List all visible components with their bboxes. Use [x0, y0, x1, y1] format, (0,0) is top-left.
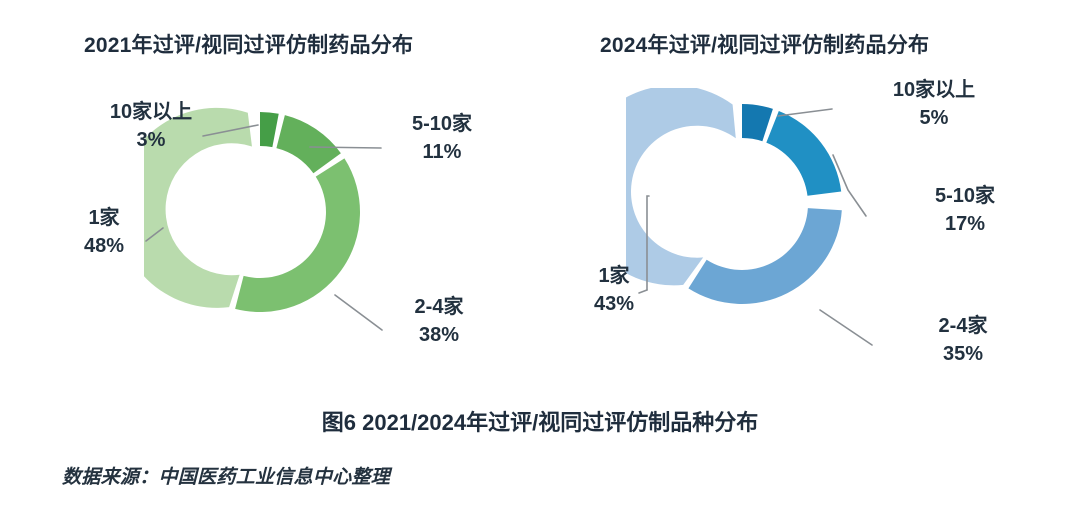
figure-caption: 图6 2021/2024年过评/视同过评仿制品种分布: [0, 405, 1080, 437]
figure-container: 2021年过评/视同过评仿制药品分布 10家以上 3% 1家 48% 5-10家: [0, 0, 1080, 526]
label-category: 10家以上: [874, 76, 994, 104]
label-value: 11%: [389, 138, 495, 166]
label-category: 5-10家: [389, 110, 495, 138]
label-value: 17%: [913, 210, 1017, 238]
label-5-10-2024: 5-10家 17%: [913, 182, 1017, 239]
data-source-note: 数据来源：中国医药工业信息中心整理: [62, 462, 390, 489]
donut-chart-2024: [626, 88, 858, 320]
label-value: 43%: [571, 290, 657, 318]
label-2-4-2021: 2-4家 38%: [389, 293, 489, 350]
label-value: 38%: [389, 321, 489, 349]
chart-title-2021: 2021年过评/视同过评仿制药品分布: [84, 29, 413, 59]
chart-title-2024: 2024年过评/视同过评仿制药品分布: [600, 29, 929, 59]
slice-10plus-2024: [742, 104, 773, 141]
slice-5-10-2024: [766, 111, 841, 196]
label-10plus-2024: 10家以上 5%: [874, 76, 994, 133]
slice-2-4-2024: [688, 208, 841, 304]
label-10plus-2021: 10家以上 3%: [93, 98, 209, 155]
label-value: 5%: [874, 104, 994, 132]
label-value: 3%: [93, 126, 209, 154]
label-category: 2-4家: [389, 293, 489, 321]
label-1-2024: 1家 43%: [571, 262, 657, 319]
label-value: 35%: [913, 340, 1013, 368]
label-2-4-2024: 2-4家 35%: [913, 312, 1013, 369]
slice-5-10-2021: [276, 115, 340, 173]
label-value: 48%: [56, 232, 152, 260]
label-5-10-2021: 5-10家 11%: [389, 110, 495, 167]
label-category: 1家: [571, 262, 657, 290]
label-category: 10家以上: [93, 98, 209, 126]
label-category: 2-4家: [913, 312, 1013, 340]
label-category: 5-10家: [913, 182, 1017, 210]
label-category: 1家: [56, 204, 152, 232]
slice-1-2024: [626, 88, 736, 285]
slice-2-4-2021: [235, 158, 360, 312]
slice-10plus-2021: [260, 112, 279, 147]
label-1-2021: 1家 48%: [56, 204, 152, 261]
